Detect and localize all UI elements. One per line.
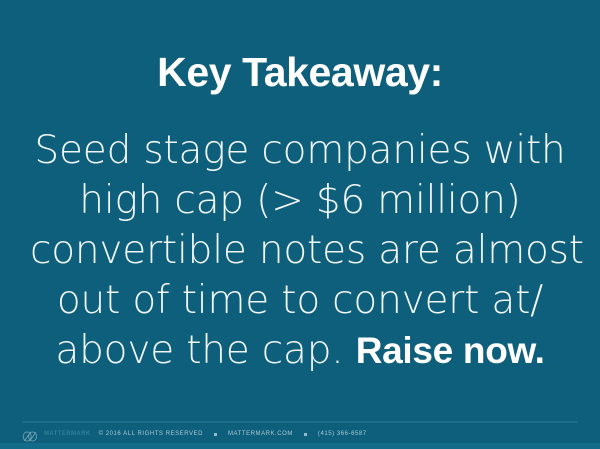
- bottom-accent-bar: [0, 443, 600, 449]
- body-line-text: out of time to convert at/: [57, 278, 543, 323]
- footer-separator-icon: [304, 433, 307, 436]
- body-line: convertible notes are almost: [30, 226, 570, 276]
- body-line: high cap (> $6 million): [30, 176, 570, 226]
- footer-copyright: © 2016 ALL RIGHTS RESERVED: [99, 431, 203, 437]
- footer-website[interactable]: MATTERMARK.COM: [228, 431, 293, 437]
- takeaway-body: Seed stage companies with high cap (> $6…: [30, 126, 570, 376]
- footer-brand-wordmark: Mattermark: [44, 431, 91, 437]
- footer-phone[interactable]: (415) 366-6587: [318, 431, 367, 437]
- call-to-action-text: Raise now.: [356, 330, 545, 371]
- footer-divider: [22, 421, 578, 423]
- title-container: Key Takeaway:: [0, 48, 600, 96]
- body-line-text: convertible notes are almost: [30, 228, 584, 273]
- body-line-text: above the cap.: [55, 328, 355, 373]
- mattermark-logo-icon: [22, 429, 38, 440]
- footer: Mattermark © 2016 ALL RIGHTS RESERVED MA…: [22, 427, 578, 441]
- body-line-final: above the cap. Raise now.: [30, 326, 570, 376]
- body-line-text: Seed stage companies with: [34, 128, 565, 173]
- body-line-text: high cap (> $6 million): [79, 178, 520, 223]
- footer-separator-icon: [214, 433, 217, 436]
- body-line: Seed stage companies with: [30, 126, 570, 176]
- body-line: out of time to convert at/: [30, 276, 570, 326]
- page-title: Key Takeaway:: [157, 48, 443, 96]
- slide-canvas: Key Takeaway: Seed stage companies with …: [0, 0, 600, 449]
